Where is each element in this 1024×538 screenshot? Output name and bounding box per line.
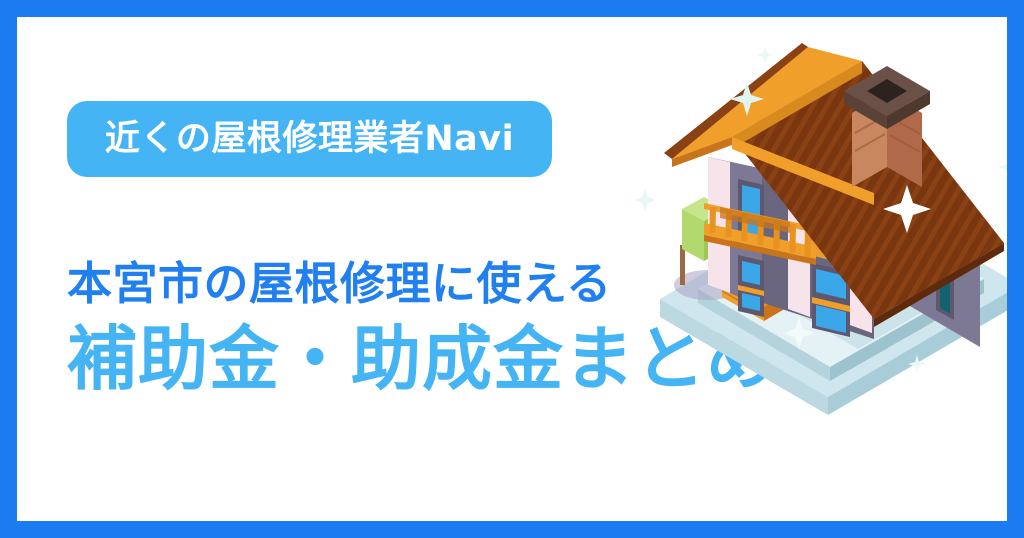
sparkle-right-edge	[998, 155, 1007, 179]
poster-canvas: 近くの屋根修理業者Navi 本宮市の屋根修理に使える 補助金・助成金まとめ	[0, 0, 1024, 538]
site-name-badge[interactable]: 近くの屋根修理業者Navi	[67, 101, 552, 177]
sparkle-left-low	[634, 189, 656, 211]
site-name-badge-label: 近くの屋根修理業者Navi	[105, 122, 514, 157]
tree-large-trunk	[680, 245, 685, 285]
front-window-lower	[738, 255, 764, 317]
isometric-house-illustration	[612, 17, 1007, 457]
sparkle-top-small	[757, 47, 773, 63]
inner-white-panel: 近くの屋根修理業者Navi 本宮市の屋根修理に使える 補助金・助成金まとめ	[17, 17, 1007, 521]
